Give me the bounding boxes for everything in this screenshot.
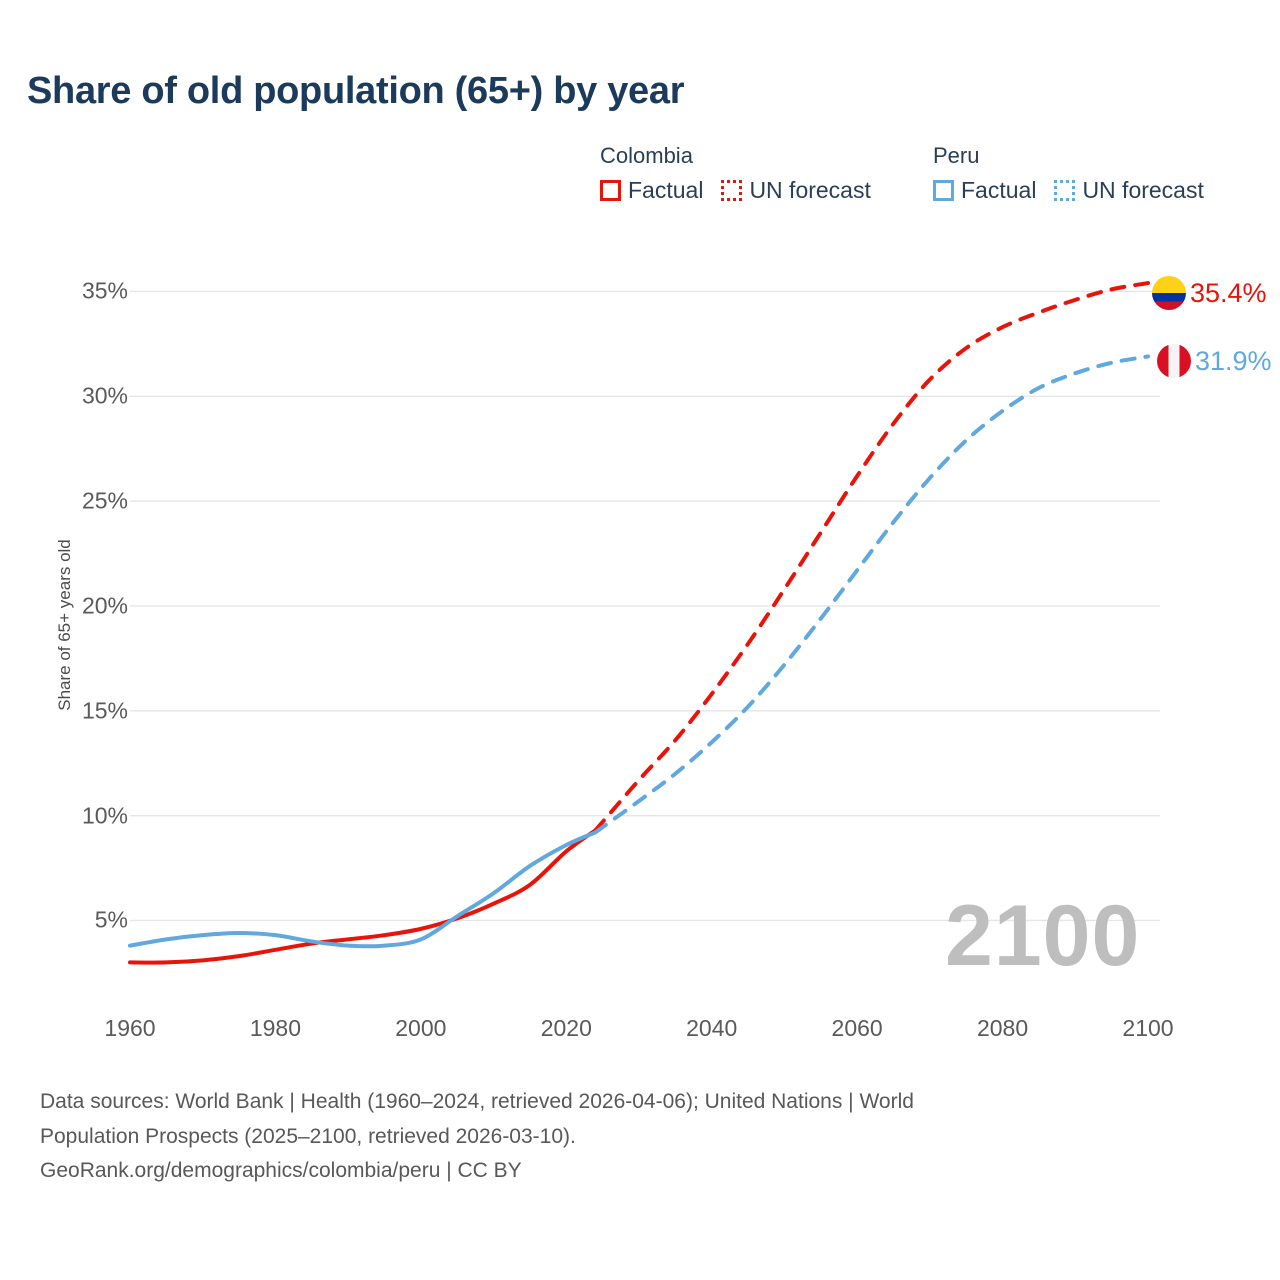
- y-tick-label: 10%: [38, 802, 128, 829]
- end-label-peru: 31.9%: [1157, 344, 1272, 378]
- x-tick-label: 2080: [977, 1015, 1028, 1042]
- y-tick-label: 15%: [38, 697, 128, 724]
- footer-line-1: Data sources: World Bank | Health (1960–…: [40, 1086, 1200, 1119]
- x-tick-label: 2060: [832, 1015, 883, 1042]
- footer-line-3: GeoRank.org/demographics/colombia/peru |…: [40, 1155, 1200, 1188]
- colombia-flag-icon: [1152, 276, 1186, 310]
- x-tick-label: 2040: [686, 1015, 737, 1042]
- chart-plot-area: 2100 Share of 65+ years old 5%10%15%20%2…: [0, 0, 1280, 1060]
- x-tick-label: 2000: [395, 1015, 446, 1042]
- footer-line-2: Population Prospects (2025–2100, retriev…: [40, 1121, 1200, 1154]
- series-line-colombia-forecast: [595, 283, 1148, 830]
- footer-sources: Data sources: World Bank | Health (1960–…: [40, 1086, 1200, 1188]
- chart-gridlines: [130, 291, 1160, 920]
- series-line-peru-forecast: [595, 356, 1148, 832]
- x-tick-label: 2020: [541, 1015, 592, 1042]
- x-tick-label: 1960: [104, 1015, 155, 1042]
- series-line-colombia-factual: [130, 830, 595, 962]
- chart-series-layer: [130, 283, 1148, 963]
- end-value-colombia: 35.4%: [1190, 278, 1267, 309]
- end-label-colombia: 35.4%: [1152, 276, 1267, 310]
- y-tick-label: 25%: [38, 488, 128, 515]
- x-tick-label: 1980: [250, 1015, 301, 1042]
- y-tick-label: 35%: [38, 278, 128, 305]
- y-tick-label: 20%: [38, 592, 128, 619]
- y-tick-label: 30%: [38, 383, 128, 410]
- x-tick-label: 2100: [1122, 1015, 1173, 1042]
- year-watermark: 2100: [945, 893, 1140, 979]
- y-tick-label: 5%: [38, 907, 128, 934]
- peru-flag-icon: [1157, 344, 1191, 378]
- end-value-peru: 31.9%: [1195, 346, 1272, 377]
- chart-page: Share of old population (65+) by year Co…: [0, 0, 1280, 1280]
